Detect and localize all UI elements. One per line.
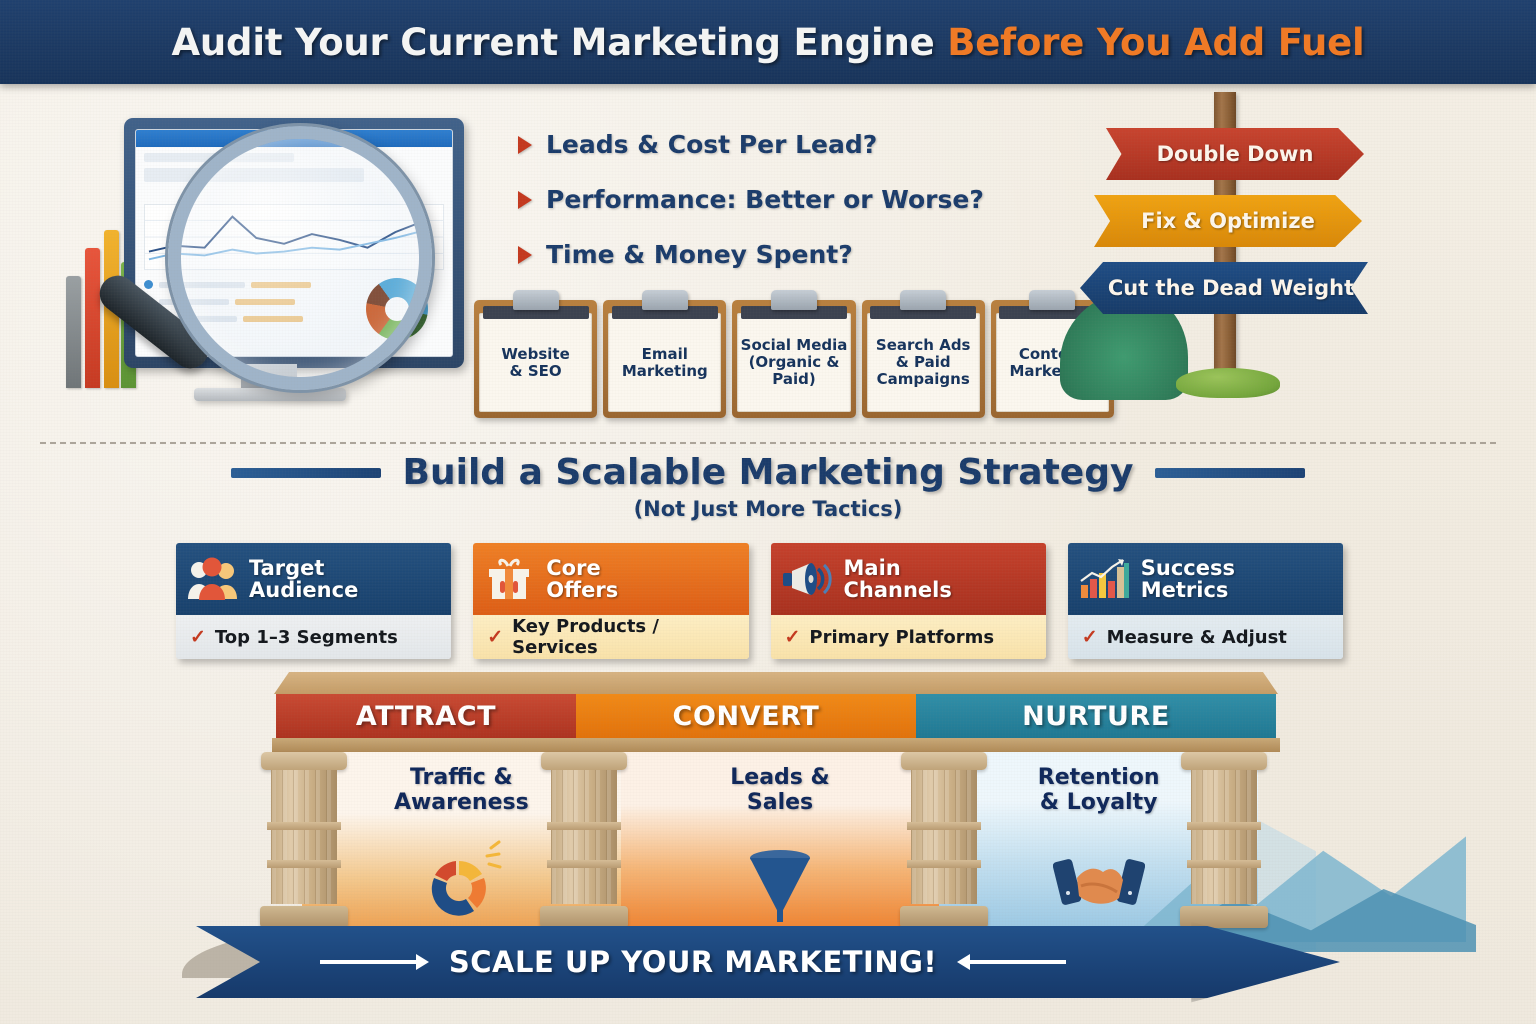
clipboard-label-line2: (Organic &: [749, 353, 840, 371]
panel-label-line2: & Loyalty: [1040, 790, 1158, 815]
infographic-canvas: Audit Your Current Marketing Engine Befo…: [0, 0, 1536, 1024]
card-subtitle: Measure & Adjust: [1107, 627, 1287, 648]
page-title-accent: Before You Add Fuel: [947, 21, 1364, 64]
card-title-line2: Metrics: [1141, 578, 1229, 602]
list-item: Leads & Cost Per Lead?: [518, 130, 988, 159]
donut-chart-icon: [415, 840, 507, 924]
bullet-label: Time & Money Spent?: [546, 240, 853, 269]
magnifier-icon: [168, 126, 432, 390]
panel-label-line1: Retention: [1038, 765, 1160, 790]
clipboard-social-media: Social Media (Organic & Paid): [732, 300, 855, 418]
panel-leads-sales: Leads & Sales: [621, 752, 940, 928]
clipboard-label-line1: Website: [501, 345, 569, 363]
column-4: [1186, 752, 1262, 928]
check-icon: ✓: [1082, 626, 1098, 649]
card-subtitle: Key Products / Services: [512, 616, 734, 658]
card-target-audience[interactable]: Target Audience ✓ Top 1–3 Segments: [176, 543, 451, 659]
band-convert: CONVERT: [576, 694, 916, 738]
people-icon: [186, 557, 238, 601]
card-title-line1: Main: [844, 556, 901, 580]
clipboard-email-marketing: Email Marketing: [603, 300, 726, 418]
clipboard-clamp-icon: [1029, 290, 1075, 310]
marketing-temple: ATTRACT CONVERT NURTURE Traffic & Awaren…: [246, 672, 1306, 962]
decision-signpost: Double Down Fix & Optimize Cut the Dead …: [1088, 92, 1388, 422]
clipboard-website-seo: Website & SEO: [474, 300, 597, 418]
scale-up-banner: SCALE UP YOUR MARKETING!: [196, 926, 1340, 998]
arrow-right-icon: [320, 954, 429, 970]
clipboard-label-line1: Search Ads: [876, 336, 971, 354]
sign-double-down: Double Down: [1106, 128, 1364, 180]
bullet-label: Performance: Better or Worse?: [546, 185, 984, 214]
panel-label-line2: Awareness: [394, 790, 529, 815]
triangle-bullet-icon: [518, 136, 532, 154]
funnel-icon: [734, 840, 826, 924]
sign-label: Cut the Dead Weight: [1080, 276, 1368, 300]
audit-illustration: [66, 96, 486, 416]
clipboard-label-line1: Email: [642, 345, 688, 363]
column-2: [546, 752, 622, 928]
sign-label: Fix & Optimize: [1094, 209, 1362, 233]
triangle-bullet-icon: [518, 246, 532, 264]
page-title: Audit Your Current Marketing Engine Befo…: [171, 21, 1364, 64]
list-item: Time & Money Spent?: [518, 240, 988, 269]
card-main-channels[interactable]: Main Channels ✓ Primary Platforms: [771, 543, 1046, 659]
card-success-metrics[interactable]: Success Metrics ✓ Measure & Adjust: [1068, 543, 1343, 659]
section-divider: [40, 442, 1496, 444]
clipboard-label-line2: Marketing: [622, 362, 708, 380]
grass-icon: [1176, 368, 1280, 398]
card-title-line1: Success: [1141, 556, 1235, 580]
handshake-icon: [1053, 840, 1145, 924]
clipboard-search-ads: Search Ads & Paid Campaigns: [862, 300, 985, 418]
band-label: CONVERT: [673, 701, 820, 732]
sign-label: Double Down: [1106, 142, 1364, 166]
rule-right: [1155, 468, 1305, 478]
card-title-line1: Core: [546, 556, 600, 580]
card-subtitle: Top 1–3 Segments: [215, 627, 398, 648]
clipboard-label-line3: Paid): [772, 370, 815, 388]
gift-icon: [483, 557, 535, 601]
clipboard-clamp-icon: [513, 290, 559, 310]
stage-band-row: ATTRACT CONVERT NURTURE: [276, 694, 1276, 738]
audit-question-list: Leads & Cost Per Lead? Performance: Bett…: [518, 130, 988, 295]
card-core-offers[interactable]: Core Offers ✓ Key Products / Services: [473, 543, 748, 659]
card-title-line2: Channels: [844, 578, 952, 602]
pillar-panel-row: Traffic & Awareness: [302, 752, 1258, 928]
panel-label-line1: Leads &: [730, 765, 829, 790]
sign-cut-dead-weight: Cut the Dead Weight: [1080, 262, 1368, 314]
column-1: [266, 752, 342, 928]
clipboard-label-line1: Social Media: [741, 336, 848, 354]
band-attract: ATTRACT: [276, 694, 576, 738]
card-title-line1: Target: [249, 556, 324, 580]
panel-label-line2: Sales: [747, 790, 813, 815]
clipboard-label-line2: & Paid: [896, 353, 951, 371]
rule-left: [231, 468, 381, 478]
header-bar: Audit Your Current Marketing Engine Befo…: [0, 0, 1536, 84]
bullet-label: Leads & Cost Per Lead?: [546, 130, 877, 159]
megaphone-icon: [781, 557, 833, 601]
page-title-main: Audit Your Current Marketing Engine: [171, 21, 934, 64]
sign-fix-optimize: Fix & Optimize: [1094, 195, 1362, 247]
strategy-section-header: Build a Scalable Marketing Strategy (Not…: [0, 452, 1536, 521]
panel-label-line1: Traffic &: [410, 765, 513, 790]
clipboard-clamp-icon: [771, 290, 817, 310]
clipboard-clamp-icon: [642, 290, 688, 310]
arrow-left-icon: [957, 954, 1066, 970]
clipboard-label-line3: Campaigns: [877, 370, 970, 388]
temple-slab-top: [274, 672, 1278, 694]
band-label: ATTRACT: [356, 701, 496, 732]
card-subtitle: Primary Platforms: [809, 627, 994, 648]
clipboard-label-line2: & SEO: [510, 362, 562, 380]
channel-clipboard-row: Website & SEO Email Marketing Social Med…: [474, 300, 1114, 418]
temple-slab-bottom: [272, 738, 1280, 752]
column-3: [906, 752, 982, 928]
strategy-card-row: Target Audience ✓ Top 1–3 Segments: [176, 543, 1343, 659]
list-item: Performance: Better or Worse?: [518, 185, 988, 214]
section-subtitle: (Not Just More Tactics): [0, 497, 1536, 521]
card-title-line2: Audience: [249, 578, 358, 602]
card-title-line2: Offers: [546, 578, 618, 602]
check-icon: ✓: [785, 626, 801, 649]
check-icon: ✓: [487, 626, 503, 649]
triangle-bullet-icon: [518, 191, 532, 209]
banner-label: SCALE UP YOUR MARKETING!: [449, 945, 937, 979]
bar-chart-icon: [1078, 557, 1130, 601]
band-label: NURTURE: [1022, 701, 1170, 732]
clipboard-clamp-icon: [900, 290, 946, 310]
band-nurture: NURTURE: [916, 694, 1276, 738]
section-title: Build a Scalable Marketing Strategy: [403, 452, 1134, 493]
check-icon: ✓: [190, 626, 206, 649]
